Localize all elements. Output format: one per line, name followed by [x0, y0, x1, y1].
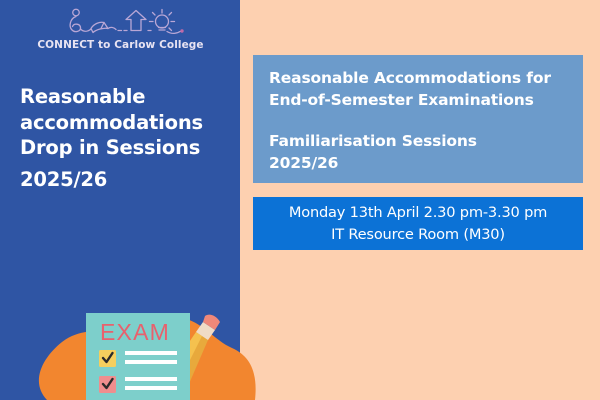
- session-location: IT Resource Room (M30): [331, 224, 505, 246]
- paper-line: [125, 351, 177, 355]
- paper-line: [125, 360, 177, 364]
- header-spacer: [269, 111, 567, 130]
- poster-canvas: CONNECT to Carlow College Reasonable acc…: [0, 0, 600, 400]
- logo-block: CONNECT to Carlow College: [18, 6, 223, 51]
- header-line-1: Reasonable Accommodations for: [269, 67, 567, 89]
- header-line-3: Familiarisation Sessions: [269, 130, 567, 152]
- logo-wordmark: CONNECT to Carlow College: [18, 39, 223, 51]
- left-title-line-2: accommodations: [20, 110, 225, 136]
- header-box: Reasonable Accommodations for End-of-Sem…: [253, 55, 583, 183]
- exam-paper-illustration: EXAM: [0, 280, 290, 400]
- paper-line: [125, 377, 177, 381]
- logo-end-dot: [180, 29, 183, 32]
- session-details-box: Monday 13th April 2.30 pm-3.30 pm IT Res…: [253, 197, 583, 250]
- left-panel-title: Reasonable accommodations Drop in Sessio…: [20, 84, 225, 161]
- exam-paper-heading: EXAM: [100, 319, 170, 345]
- header-line-2: End-of-Semester Examinations: [269, 89, 567, 111]
- left-title-line-1: Reasonable: [20, 84, 225, 110]
- header-line-4: 2025/26: [269, 152, 567, 174]
- left-title-line-3: Drop in Sessions: [20, 135, 225, 161]
- connect-carlow-college-logo-icon: [56, 6, 186, 38]
- left-panel-year: 2025/26: [20, 168, 107, 191]
- session-datetime: Monday 13th April 2.30 pm-3.30 pm: [289, 202, 547, 224]
- paper-line: [125, 386, 177, 390]
